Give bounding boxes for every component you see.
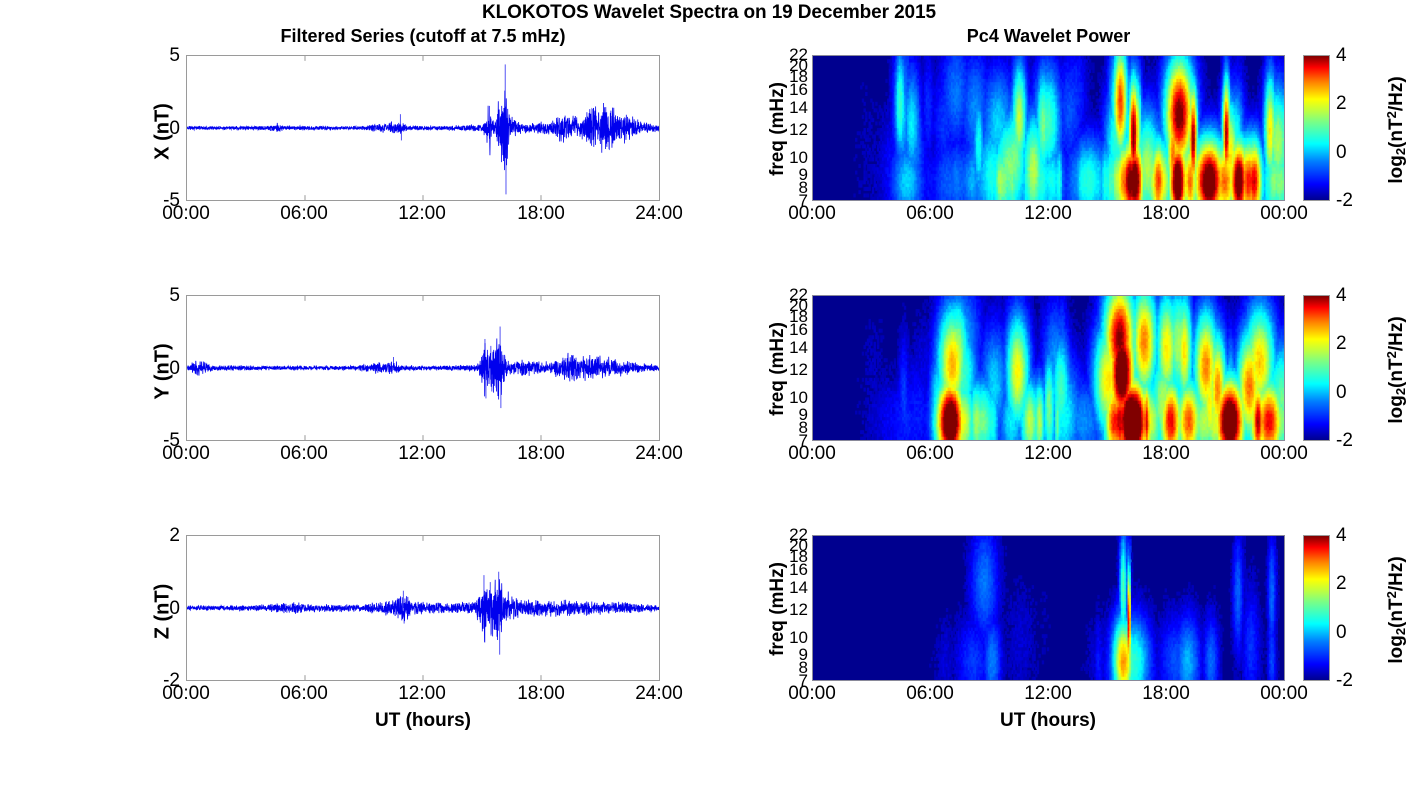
colorbar-label-row2: log2(nT2/Hz): [1384, 290, 1408, 450]
x-tick-left-4-row1: 24:00: [614, 203, 704, 225]
colorbar-tick-2-row1: 2: [1336, 93, 1347, 115]
timeseries-plot-x: [187, 56, 659, 200]
figure-canvas: KLOKOTOS Wavelet Spectra on 19 December …: [0, 0, 1418, 788]
y-tick-x-mid: 0: [148, 118, 180, 140]
colorbar-row2[interactable]: [1303, 295, 1330, 441]
spectrogram-image-x: [813, 56, 1284, 200]
colorbar-tick-4-row2: 4: [1336, 285, 1347, 307]
x-tick-right-1-row2: 06:00: [885, 443, 975, 465]
x-tick-left-1-row3: 06:00: [259, 683, 349, 705]
y-tick-z-top: 2: [148, 525, 180, 547]
x-tick-right-0-row2: 00:00: [767, 443, 857, 465]
colorbar-tick-0-row2: 0: [1336, 382, 1347, 404]
colorbar-tick-neg2-row1: -2: [1336, 190, 1353, 212]
x-tick-left-0-row2: 00:00: [141, 443, 231, 465]
timeseries-panel-y[interactable]: [186, 295, 660, 441]
x-tick-right-1-row3: 06:00: [885, 683, 975, 705]
x-tick-right-2-row2: 12:00: [1003, 443, 1093, 465]
spectrogram-panel-x[interactable]: [812, 55, 1285, 201]
right-column-title: Pc4 Wavelet Power: [812, 26, 1285, 47]
x-tick-left-2-row3: 12:00: [377, 683, 467, 705]
x-tick-left-1-row1: 06:00: [259, 203, 349, 225]
x-tick-right-0-row1: 00:00: [767, 203, 857, 225]
timeseries-panel-x[interactable]: [186, 55, 660, 201]
colorbar-tick-0-row3: 0: [1336, 622, 1347, 644]
spectrogram-panel-y[interactable]: [812, 295, 1285, 441]
x-tick-right-3-row3: 18:00: [1121, 683, 1211, 705]
x-tick-left-0-row3: 00:00: [141, 683, 231, 705]
freq-tick-y-14: 14: [778, 338, 808, 358]
x-tick-right-2-row3: 12:00: [1003, 683, 1093, 705]
freq-tick-y-16: 16: [778, 320, 808, 340]
spectrogram-panel-z[interactable]: [812, 535, 1285, 681]
x-tick-right-3-row1: 18:00: [1121, 203, 1211, 225]
colorbar-tick-neg2-row2: -2: [1336, 430, 1353, 452]
x-tick-right-0-row3: 00:00: [767, 683, 857, 705]
figure-main-title: KLOKOTOS Wavelet Spectra on 19 December …: [0, 2, 1418, 24]
colorbar-tick-neg2-row3: -2: [1336, 670, 1353, 692]
timeseries-plot-z: [187, 536, 659, 680]
timeseries-panel-z[interactable]: [186, 535, 660, 681]
spectrogram-image-z: [813, 536, 1284, 680]
x-tick-left-4-row2: 24:00: [614, 443, 704, 465]
x-axis-label-left: UT (hours): [343, 710, 503, 732]
x-tick-right-3-row2: 18:00: [1121, 443, 1211, 465]
colorbar-tick-0-row1: 0: [1336, 142, 1347, 164]
spectrogram-image-y: [813, 296, 1284, 440]
y-tick-y-mid: 0: [148, 358, 180, 380]
y-tick-y-top: 5: [148, 285, 180, 307]
left-column-title: Filtered Series (cutoff at 7.5 mHz): [186, 26, 660, 47]
colorbar-label-text-row1: log2(nT2/Hz): [1386, 76, 1407, 183]
colorbar-tick-4-row1: 4: [1336, 45, 1347, 67]
freq-tick-x-16: 16: [778, 80, 808, 100]
freq-tick-x-12: 12: [778, 120, 808, 140]
x-tick-left-2-row2: 12:00: [377, 443, 467, 465]
colorbar-row3[interactable]: [1303, 535, 1330, 681]
colorbar-label-row3: log2(nT2/Hz): [1384, 530, 1408, 690]
x-tick-right-4-row3: 00:00: [1239, 683, 1329, 705]
y-tick-x-top: 5: [148, 45, 180, 67]
colorbar-row1[interactable]: [1303, 55, 1330, 201]
x-axis-label-right: UT (hours): [968, 710, 1128, 732]
freq-tick-z-16: 16: [778, 560, 808, 580]
freq-tick-z-14: 14: [778, 578, 808, 598]
colorbar-label-text-row3: log2(nT2/Hz): [1386, 556, 1407, 663]
x-tick-right-2-row1: 12:00: [1003, 203, 1093, 225]
x-tick-left-0-row1: 00:00: [141, 203, 231, 225]
colorbar-tick-2-row2: 2: [1336, 333, 1347, 355]
x-tick-right-4-row2: 00:00: [1239, 443, 1329, 465]
x-tick-right-4-row1: 00:00: [1239, 203, 1329, 225]
y-tick-z-mid: 0: [148, 598, 180, 620]
x-tick-left-3-row2: 18:00: [496, 443, 586, 465]
x-tick-left-2-row1: 12:00: [377, 203, 467, 225]
timeseries-plot-y: [187, 296, 659, 440]
x-tick-left-3-row1: 18:00: [496, 203, 586, 225]
colorbar-tick-4-row3: 4: [1336, 525, 1347, 547]
freq-tick-z-12: 12: [778, 600, 808, 620]
x-tick-left-3-row3: 18:00: [496, 683, 586, 705]
freq-tick-y-12: 12: [778, 360, 808, 380]
colorbar-label-text-row2: log2(nT2/Hz): [1386, 316, 1407, 423]
x-tick-left-1-row2: 06:00: [259, 443, 349, 465]
x-tick-left-4-row3: 24:00: [614, 683, 704, 705]
colorbar-label-row1: log2(nT2/Hz): [1384, 50, 1408, 210]
freq-tick-x-14: 14: [778, 98, 808, 118]
x-tick-right-1-row1: 06:00: [885, 203, 975, 225]
colorbar-tick-2-row3: 2: [1336, 573, 1347, 595]
